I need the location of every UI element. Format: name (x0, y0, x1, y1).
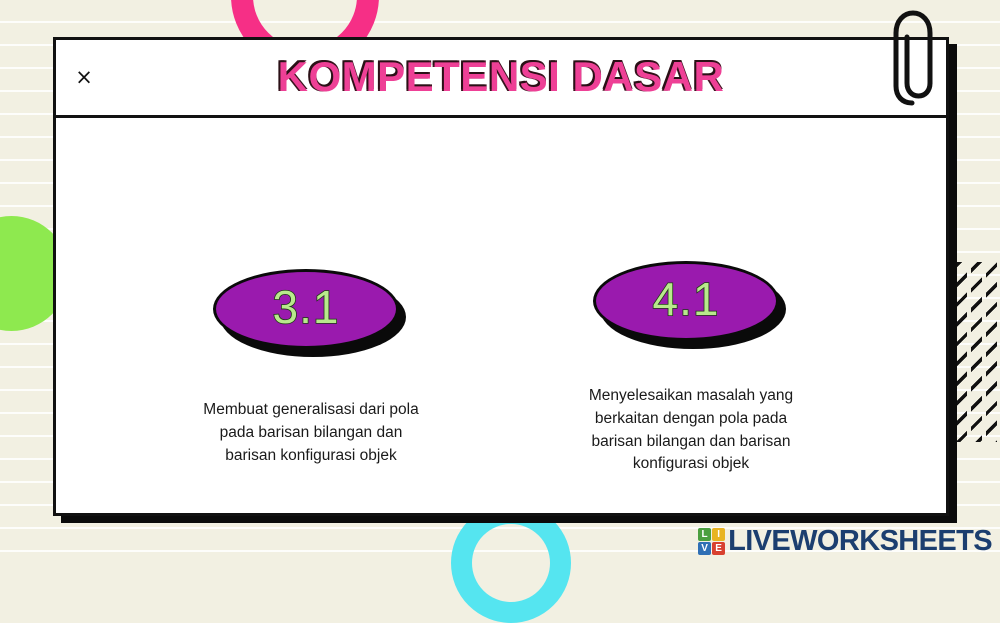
competency-description-4-1: Menyelesaikan masalah yang berkaitan den… (589, 385, 793, 476)
description-line: berkaitan dengan pola pada (589, 408, 793, 431)
paperclip-icon (884, 7, 940, 111)
close-icon[interactable]: × (69, 63, 99, 93)
logo-square-v: V (698, 542, 711, 555)
card-body: 3.1 Membuat generalisasi dari pola pada … (56, 118, 946, 513)
badge-ellipse: 3.1 (213, 269, 399, 349)
liveworksheets-wordmark: LIVEWORKSHEETS (728, 527, 992, 556)
description-line: barisan bilangan dan barisan (589, 431, 793, 454)
competency-column-3-1: 3.1 Membuat generalisasi dari pola pada … (141, 269, 481, 513)
logo-square-e: E (712, 542, 725, 555)
page-title: KOMPETENSI DASAR (278, 53, 725, 103)
liveworksheets-mark-icon: L I V E (698, 528, 725, 555)
competency-code-label: 4.1 (653, 276, 720, 326)
logo-square-i: I (712, 528, 725, 541)
description-line: Membuat generalisasi dari pola (203, 399, 418, 422)
description-line: barisan konfigurasi objek (203, 445, 418, 468)
slide-card: × KOMPETENSI DASAR 3.1 Membuat generalis… (53, 37, 949, 516)
competency-badge-3-1: 3.1 (213, 269, 409, 357)
description-line: Menyelesaikan masalah yang (589, 385, 793, 408)
competency-column-4-1: 4.1 Menyelesaikan masalah yang berkaitan… (521, 261, 861, 513)
badge-ellipse: 4.1 (593, 261, 779, 341)
liveworksheets-logo[interactable]: L I V E LIVEWORKSHEETS (698, 527, 992, 556)
description-line: pada barisan bilangan dan (203, 422, 418, 445)
description-line: konfigurasi objek (589, 453, 793, 476)
hatch-pattern-decoration (956, 262, 1000, 442)
competency-description-3-1: Membuat generalisasi dari pola pada bari… (203, 399, 418, 467)
competency-code-label: 3.1 (273, 284, 340, 334)
logo-square-l: L (698, 528, 711, 541)
competency-badge-4-1: 4.1 (593, 261, 789, 349)
card-header: × KOMPETENSI DASAR (56, 40, 946, 118)
